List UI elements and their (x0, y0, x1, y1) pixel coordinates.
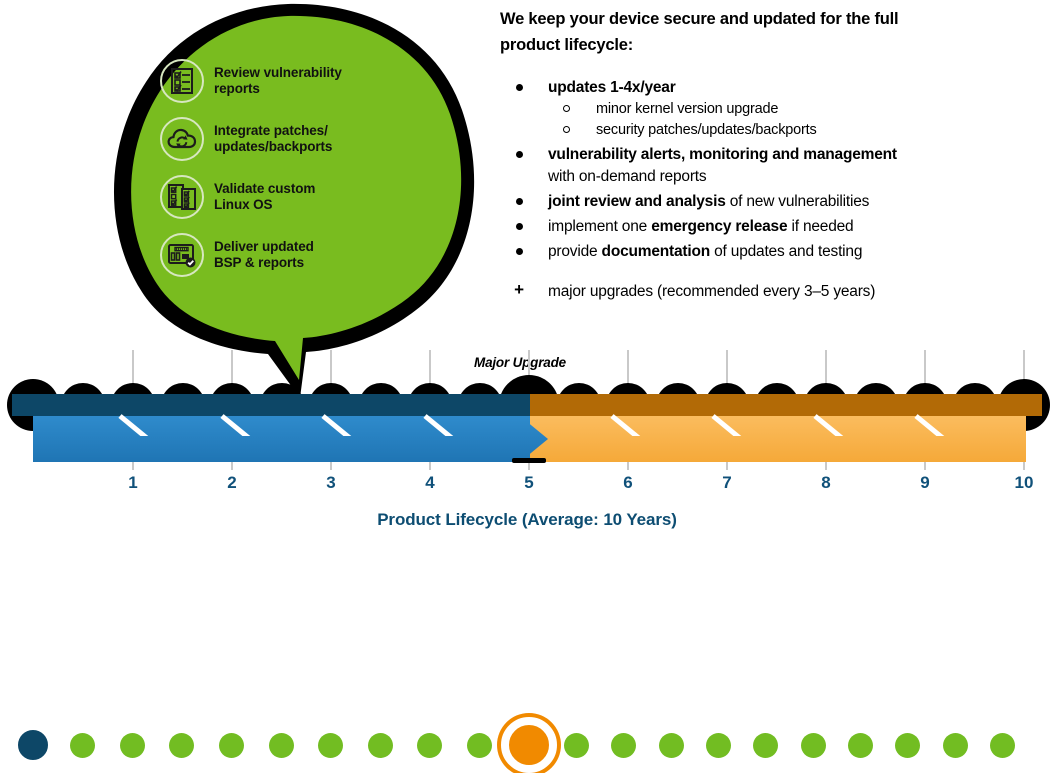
bullet-plus-icon: + (512, 281, 526, 299)
list-item: implement one emergency release if neede… (500, 216, 1050, 238)
list-item-text: vulnerability alerts, monitoring and man… (548, 146, 897, 163)
bubble-item-label: Review vulnerability reports (214, 65, 342, 97)
list-item: security patches/updates/backports (500, 120, 1050, 141)
release-dot (706, 733, 731, 758)
bullet-circle-icon (563, 105, 570, 112)
bullet-disc-icon (516, 84, 523, 91)
list-item-text: of updates and testing (710, 243, 862, 260)
release-dot (801, 733, 826, 758)
bubble-item-label: Deliver updated BSP & reports (214, 239, 314, 271)
bubble-item-label: Validate custom Linux OS (214, 181, 315, 213)
clipboard-check-icon (160, 59, 204, 103)
release-dot (318, 733, 343, 758)
bullet-disc-icon (516, 198, 523, 205)
list-item-text: provide (548, 243, 602, 260)
bullet-disc-icon (516, 223, 523, 230)
list-item-text: implement one (548, 218, 651, 235)
tick-label-9: 9 (903, 473, 947, 493)
product-lifecycle-timeline: 12345678910 Product Lifecycle (Average: … (0, 340, 1054, 548)
bullet-circle-icon (563, 126, 570, 133)
bubble-item-deliver-updated-bsp: Deliver updated BSP & reports (160, 232, 410, 278)
release-dot (120, 733, 145, 758)
benefit-list: updates 1-4x/year minor kernel version u… (500, 77, 1050, 303)
release-dot (943, 733, 968, 758)
list-item-continuation: with on-demand reports (500, 166, 1050, 188)
bubble-item-label: Integrate patches/ updates/backports (214, 123, 332, 155)
board-check-icon (160, 233, 204, 277)
timeline-title: Product Lifecycle (Average: 10 Years) (0, 510, 1054, 530)
bubble-item-review-vulnerability-reports: Review vulnerability reports (160, 58, 410, 104)
release-dot (990, 733, 1015, 758)
release-dot (368, 733, 393, 758)
release-dot (219, 733, 244, 758)
tick-label-8: 8 (804, 473, 848, 493)
release-dot (753, 733, 778, 758)
list-item-text-bold: joint review and analysis (548, 193, 726, 210)
list-item-text: minor kernel version upgrade (596, 101, 778, 117)
list-item: provide documentation of updates and tes… (500, 241, 1050, 263)
list-item: joint review and analysis of new vulnera… (500, 191, 1050, 213)
lead-paragraph: We keep your device secure and updated f… (500, 6, 1050, 58)
product-launch-marker[interactable] (13, 725, 53, 765)
list-item: vulnerability alerts, monitoring and man… (500, 144, 1050, 166)
bubble-item-validate-custom-linux-os: Validate custom Linux OS (160, 174, 410, 220)
tick-label-3: 3 (309, 473, 353, 493)
bubble-item-list: Review vulnerability reports Integrate p… (160, 58, 410, 290)
tick-label-4: 4 (408, 473, 452, 493)
release-dot (895, 733, 920, 758)
bubble-item-integrate-patches: Integrate patches/ updates/backports (160, 116, 410, 162)
release-dot (269, 733, 294, 758)
spacer (500, 58, 1050, 74)
list-item-text-bold: documentation (602, 243, 710, 260)
list-item-text: security patches/updates/backports (596, 122, 817, 138)
bullet-disc-icon (516, 151, 523, 158)
tick-label-2: 2 (210, 473, 254, 493)
release-dot (659, 733, 684, 758)
list-item-text: with on-demand reports (548, 168, 706, 185)
tick-label-5: 5 (507, 473, 551, 493)
list-item: minor kernel version upgrade (500, 99, 1050, 120)
infographic-stage: Review vulnerability reports Integrate p… (0, 0, 1054, 548)
list-item-text: major upgrades (recommended every 3–5 ye… (548, 283, 875, 300)
checklists-icon (160, 175, 204, 219)
release-dot (169, 733, 194, 758)
tick-label-7: 7 (705, 473, 749, 493)
tick-label-10: 10 (1002, 473, 1046, 493)
release-dot (848, 733, 873, 758)
release-dot (611, 733, 636, 758)
list-item-major-upgrades: + major upgrades (recommended every 3–5 … (500, 281, 1050, 303)
list-item-text-bold: emergency release (651, 218, 787, 235)
release-dot (467, 733, 492, 758)
copy-block: We keep your device secure and updated f… (500, 6, 1050, 303)
list-item-text: updates 1-4x/year (548, 79, 676, 96)
release-dot (417, 733, 442, 758)
tick-label-6: 6 (606, 473, 650, 493)
list-item-text: if needed (787, 218, 853, 235)
cloud-sync-icon (160, 117, 204, 161)
release-dot (70, 733, 95, 758)
major-upgrade-marker[interactable] (501, 717, 557, 773)
list-item: updates 1-4x/year (500, 77, 1050, 99)
bullet-disc-icon (516, 248, 523, 255)
tick-label-1: 1 (111, 473, 155, 493)
release-dot (564, 733, 589, 758)
list-item-text: of new vulnerabilities (726, 193, 870, 210)
